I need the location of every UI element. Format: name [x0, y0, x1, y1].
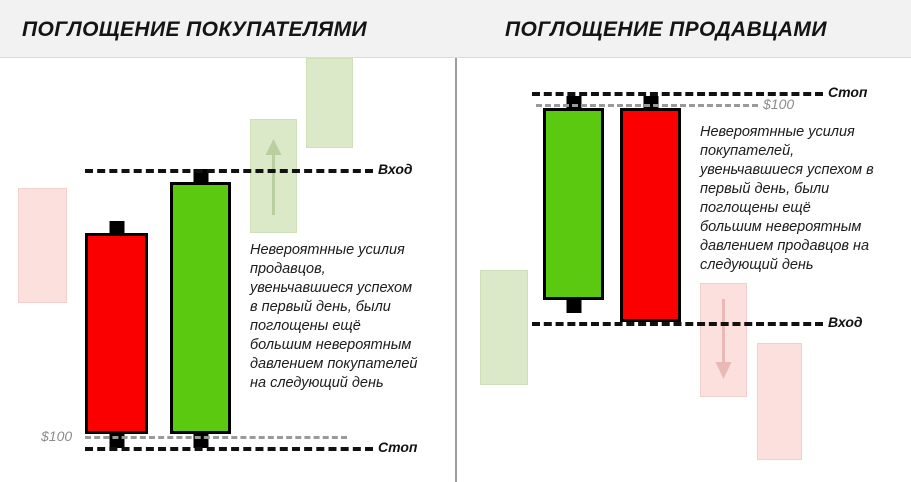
ghost-candle-bearish-4 [757, 343, 802, 460]
stop-level-label: Стоп [828, 84, 867, 100]
candle-bullish-day2 [170, 57, 231, 482]
candle-body [543, 108, 604, 300]
ghost-candle-bearish-0 [18, 188, 67, 303]
candle-bearish-day1 [85, 57, 148, 482]
right-panel-bearish-engulfing: Стоп $100 Вход Невероятнные усилия покуп… [457, 57, 911, 482]
left-annotation-text: Невероятнные усилия продавцов, увеньчавш… [250, 241, 422, 393]
engulfing-patterns-infographic: ПОГЛОЩЕНИЕ ПОКУПАТЕЛЯМИ ПОГЛОЩЕНИЕ ПРОДА… [0, 0, 911, 482]
left-panel-bullish-engulfing: Вход $100 Стоп Невероятнные усилия прода… [0, 57, 455, 482]
ghost-candle-bullish-4 [306, 58, 353, 148]
price-level-line [85, 436, 347, 439]
stop-level-label: Стоп [378, 439, 417, 455]
entry-level-line [532, 322, 823, 326]
price-level-label: $100 [763, 96, 794, 112]
price-level-line [536, 104, 758, 107]
ghost-candle-bullish-0 [480, 270, 528, 385]
candle-body [170, 182, 231, 434]
left-panel-title: ПОГЛОЩЕНИЕ ПОКУПАТЕЛЯМИ [22, 18, 367, 42]
right-annotation-text: Невероятнные усилия покупателей, увеньча… [700, 123, 876, 275]
candle-bearish-day2 [620, 57, 681, 482]
price-level-label: $100 [41, 428, 72, 444]
candle-bullish-day1 [543, 57, 604, 482]
candle-body [620, 108, 681, 322]
entry-level-label: Вход [828, 314, 863, 330]
up-arrow-icon [257, 137, 290, 217]
right-panel-title: ПОГЛОЩЕНИЕ ПРОДАВЦАМИ [505, 18, 827, 42]
down-arrow-icon [707, 297, 740, 381]
candle-body [85, 233, 148, 434]
entry-level-line [85, 169, 373, 173]
stop-level-line [85, 447, 373, 451]
entry-level-label: Вход [378, 161, 413, 177]
